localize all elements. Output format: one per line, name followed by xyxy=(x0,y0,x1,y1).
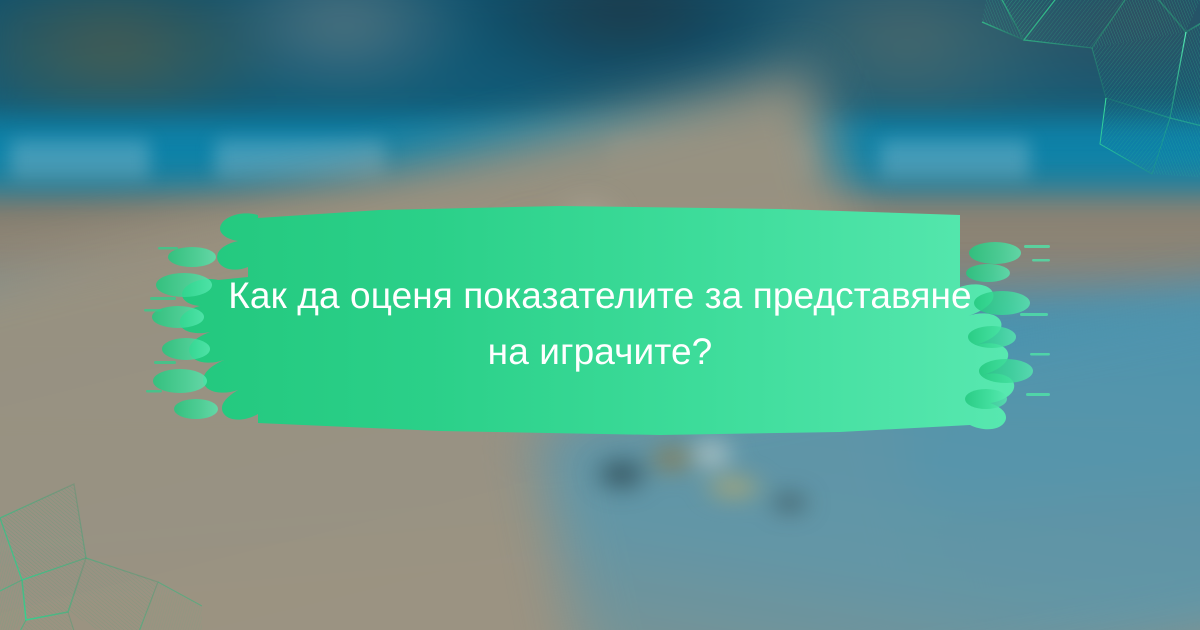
background-signage xyxy=(880,140,1030,180)
card-title-line-1: Как да оценя показателите за представяне xyxy=(190,268,1010,324)
background-signage xyxy=(215,140,385,180)
card-title-line-2: на играчите? xyxy=(190,324,1010,380)
social-share-card: Как да оценя показателите за представяне… xyxy=(0,0,1200,630)
card-title: Как да оценя показателите за представяне… xyxy=(190,268,1010,380)
background-signage xyxy=(10,140,150,180)
